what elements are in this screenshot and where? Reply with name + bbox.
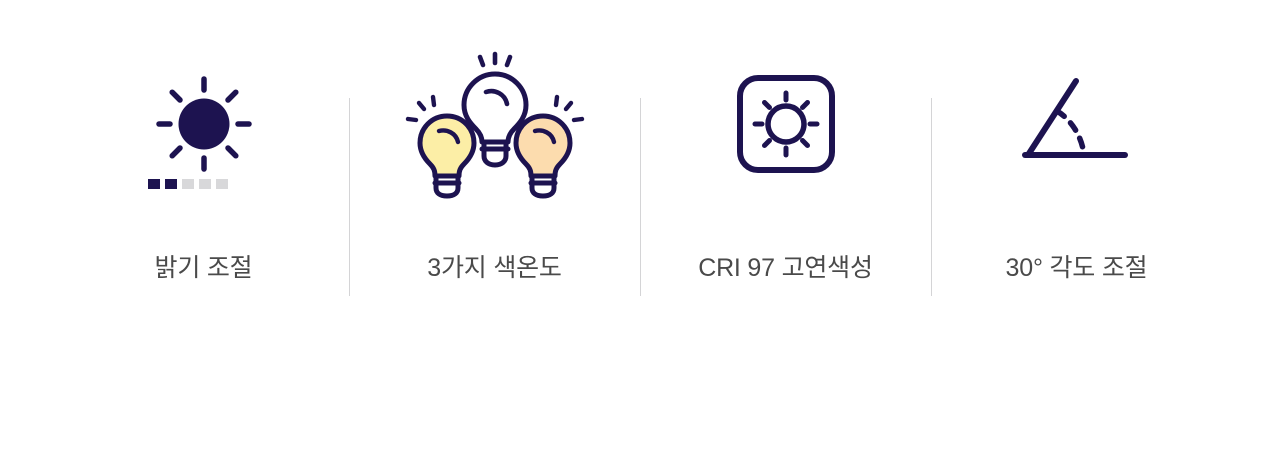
feature-item-angle: 30° 각도 조절 xyxy=(931,0,1222,467)
icon-slot xyxy=(58,0,349,240)
swatch-2 xyxy=(165,179,177,189)
feature-strip: 밝기 조절 xyxy=(0,0,1280,467)
swatch-5 xyxy=(216,179,228,189)
icon-slot xyxy=(640,0,931,240)
swatch-4 xyxy=(199,179,211,189)
feature-item-color-temperature: 3가지 색온도 xyxy=(349,0,640,467)
sun-core-outline xyxy=(768,106,804,142)
angle-arc-dashed xyxy=(1057,111,1084,154)
three-bulbs-icon xyxy=(400,44,590,204)
bulb-sparkles xyxy=(556,97,582,120)
cri-sun-square-icon xyxy=(721,59,851,189)
bulb-sparkles xyxy=(408,97,434,120)
sun-rays xyxy=(755,93,817,155)
feature-label-brightness: 밝기 조절 xyxy=(155,256,253,281)
feature-label-color-temperature: 3가지 색온도 xyxy=(427,256,561,281)
feature-item-cri: CRI 97 고연색성 xyxy=(640,0,931,467)
icon-slot xyxy=(931,0,1222,240)
sun-core xyxy=(178,99,229,150)
feature-label-angle: 30° 각도 조절 xyxy=(1006,256,1148,281)
angle-hypotenuse xyxy=(1028,81,1076,155)
feature-item-brightness: 밝기 조절 xyxy=(58,0,349,467)
brightness-swatches xyxy=(148,179,228,189)
feature-label-cri: CRI 97 고연색성 xyxy=(698,256,873,281)
sun-brightness-icon xyxy=(139,59,269,189)
bulb-sparkles xyxy=(480,54,510,65)
icon-slot xyxy=(349,0,640,240)
swatch-1 xyxy=(148,179,160,189)
angle-30-icon xyxy=(1007,59,1147,189)
swatch-3 xyxy=(182,179,194,189)
